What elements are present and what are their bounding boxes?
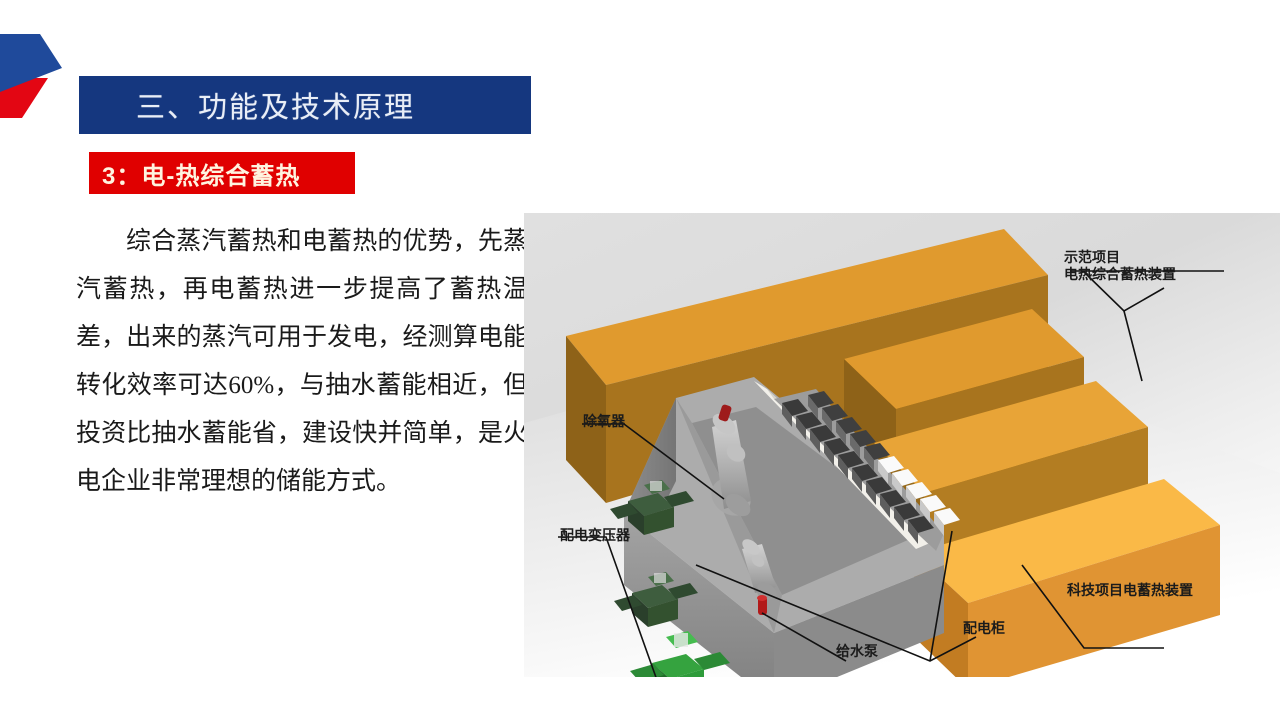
- corner-decoration: [0, 20, 78, 130]
- label-demo-project-line2: 电热综合蓄热装置: [1064, 266, 1176, 283]
- label-tech-project: 科技项目电蓄热装置: [1067, 582, 1193, 599]
- label-demo-project: 示范项目 电热综合蓄热装置: [1064, 249, 1176, 283]
- label-deaerator: 除氧器: [583, 413, 625, 430]
- label-distribution-cabinet: 配电柜: [963, 620, 1005, 637]
- section-title-bar: 三、功能及技术原理: [79, 76, 531, 134]
- decoration-blue-arrow: [0, 34, 62, 92]
- body-paragraph: 综合蒸汽蓄热和电蓄热的优势，先蒸汽蓄热，再电蓄热进一步提高了蓄热温差，出来的蒸汽…: [76, 218, 528, 506]
- subsection-title-text: 3：电-热综合蓄热: [102, 156, 300, 191]
- section-title-text: 三、功能及技术原理: [136, 84, 415, 126]
- label-transformer: 配电变压器: [560, 527, 630, 544]
- label-demo-project-line1: 示范项目: [1064, 249, 1176, 266]
- label-feedwater-pump: 给水泵: [836, 643, 878, 660]
- slide-root: { "slide": { "section_title": "三、功能及技术原理…: [0, 0, 1280, 720]
- subsection-title-bar: 3：电-热综合蓄热: [89, 152, 355, 194]
- decoration-red-shape: [0, 78, 48, 118]
